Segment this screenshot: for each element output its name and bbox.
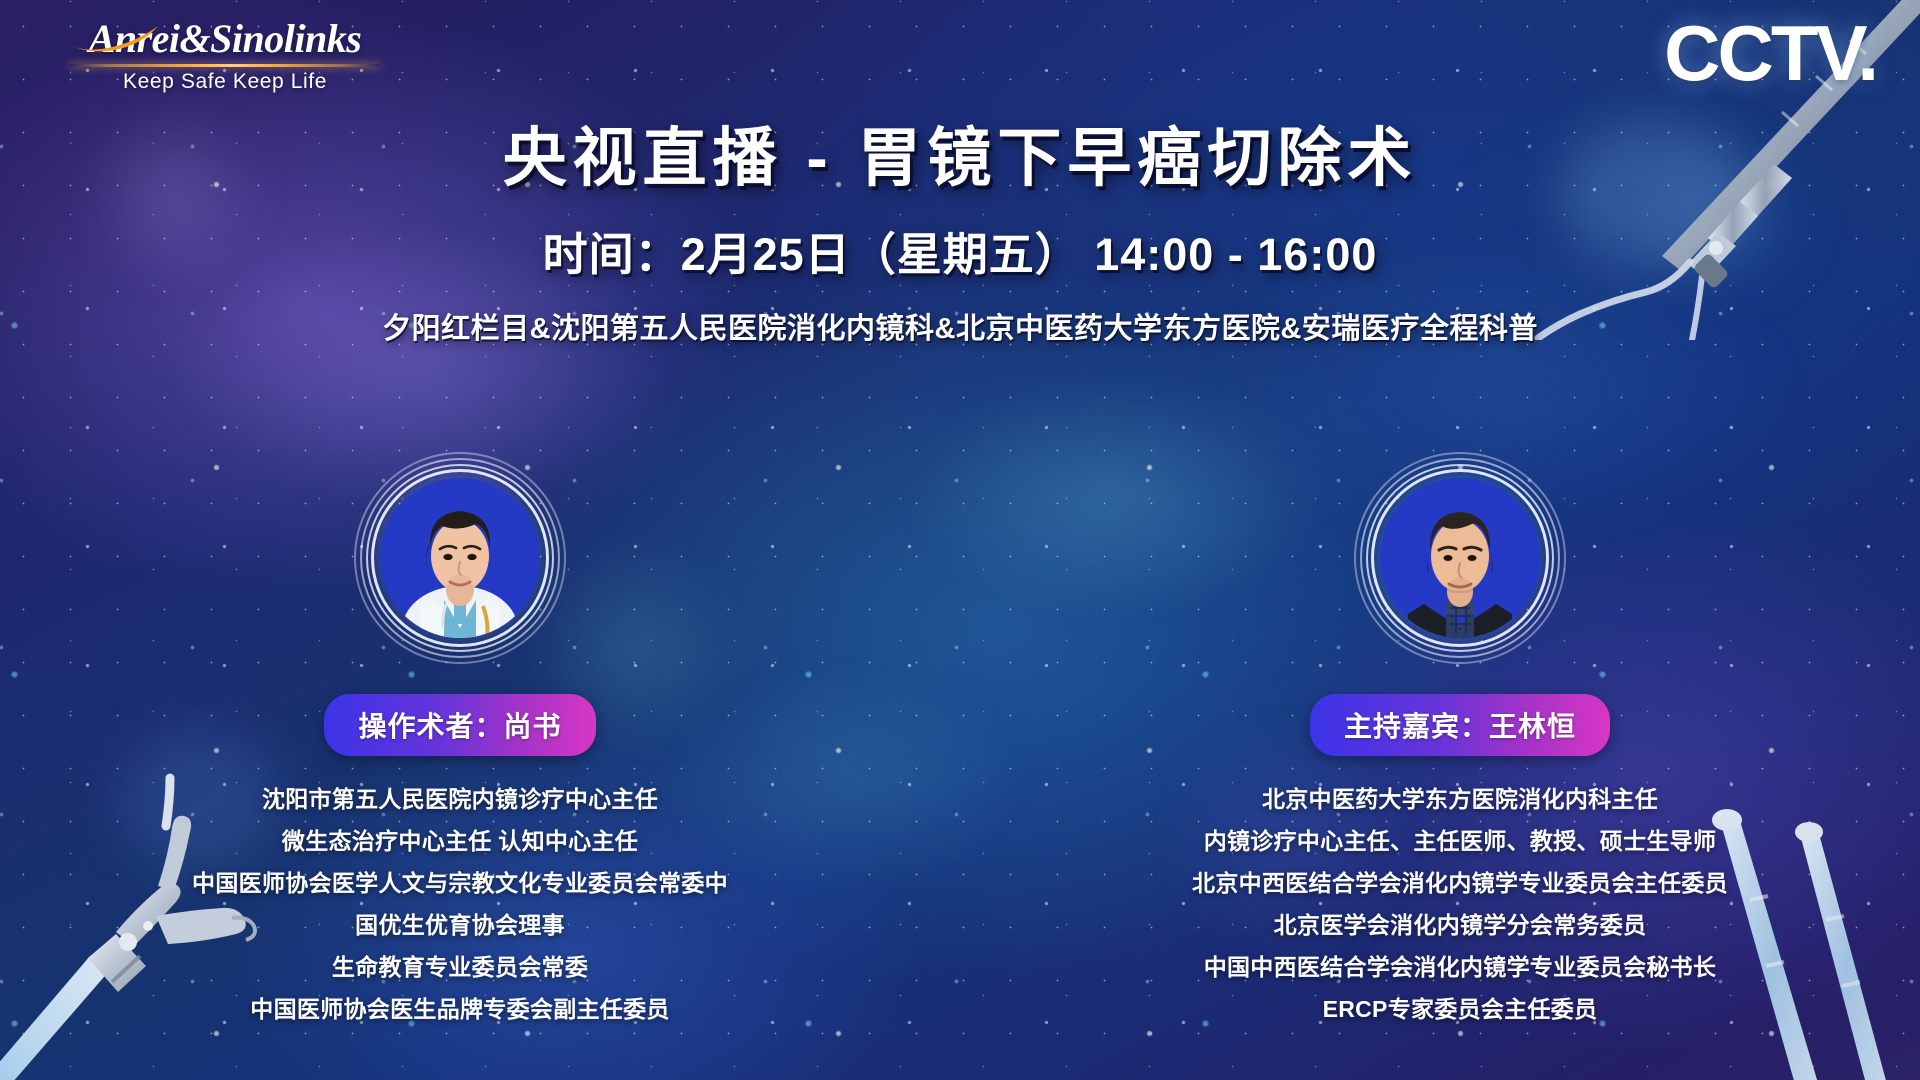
brand-tagline: Keep Safe Keep Life	[60, 70, 390, 94]
credentials-list-operator: 沈阳市第五人民医院内镜诊疗中心主任 微生态治疗中心主任 认知中心主任 中国医师协…	[130, 780, 790, 1024]
credentials-list-host: 北京中医药大学东方医院消化内科主任 内镜诊疗中心主任、主任医师、教授、硕士生导师…	[1130, 780, 1790, 1024]
poster-canvas: Anrei&Sinolinks Keep Safe Keep Life CCTV…	[0, 0, 1920, 1080]
speaker-card-host: 主持嘉宾：王林恒 北京中医药大学东方医院消化内科主任 内镜诊疗中心主任、主任医师…	[1180, 452, 1740, 1024]
brand-name-part1: Anrei	[89, 16, 180, 61]
avatar	[354, 452, 566, 664]
list-item: 北京中医药大学东方医院消化内科主任	[1262, 780, 1658, 814]
portrait-illustration-host	[1380, 478, 1540, 638]
list-item: 国优生优育协会理事	[355, 906, 565, 940]
cctv-logo: CCTV.	[1664, 14, 1876, 92]
list-item: 北京医学会消化内镜学分会常务委员	[1274, 906, 1647, 940]
headline-block: 央视直播 - 胃镜下早癌切除术 时间：2月25日（星期五） 14:00 - 16…	[0, 122, 1920, 347]
list-item: 内镜诊疗中心主任、主任医师、教授、硕士生导师	[1204, 822, 1717, 856]
status-badge-operator: 操作术者：尚书	[324, 694, 595, 756]
status-badge-host: 主持嘉宾：王林恒	[1310, 694, 1610, 756]
event-time: 时间：2月25日（星期五） 14:00 - 16:00	[0, 218, 1920, 283]
list-item: 中国医师协会医学人文与宗教文化专业委员会常委中	[192, 864, 728, 898]
list-item: 沈阳市第五人民医院内镜诊疗中心主任	[262, 780, 658, 814]
event-partners: 夕阳红栏目&沈阳第五人民医院消化内镜科&北京中医药大学东方医院&安瑞医疗全程科普	[0, 305, 1920, 347]
list-item: 生命教育专业委员会常委	[332, 948, 588, 982]
brand-divider	[69, 64, 381, 67]
page-title: 央视直播 - 胃镜下早癌切除术	[0, 122, 1920, 196]
brand-name-part2: Sinolinks	[210, 16, 361, 61]
list-item: 微生态治疗中心主任 认知中心主任	[282, 822, 638, 856]
list-item: 中国中西医结合学会消化内镜学专业委员会秘书长	[1204, 948, 1717, 982]
avatar-photo-operator	[380, 478, 540, 638]
portrait-illustration-operator	[380, 478, 540, 638]
list-item: 北京中西医结合学会消化内镜学专业委员会主任委员	[1192, 864, 1728, 898]
avatar	[1354, 452, 1566, 664]
avatar-photo-host	[1380, 478, 1540, 638]
brand-logo: Anrei&Sinolinks Keep Safe Keep Life	[60, 18, 390, 94]
speaker-card-operator: 操作术者：尚书 沈阳市第五人民医院内镜诊疗中心主任 微生态治疗中心主任 认知中心…	[180, 452, 740, 1024]
list-item: ERCP专家委员会主任委员	[1323, 990, 1598, 1024]
list-item: 中国医师协会医生品牌专委会副主任委员	[250, 990, 669, 1024]
speakers-row: 操作术者：尚书 沈阳市第五人民医院内镜诊疗中心主任 微生态治疗中心主任 认知中心…	[0, 452, 1920, 1024]
brand-ampersand: &	[180, 16, 211, 61]
brand-wordmark: Anrei&Sinolinks	[60, 18, 390, 60]
